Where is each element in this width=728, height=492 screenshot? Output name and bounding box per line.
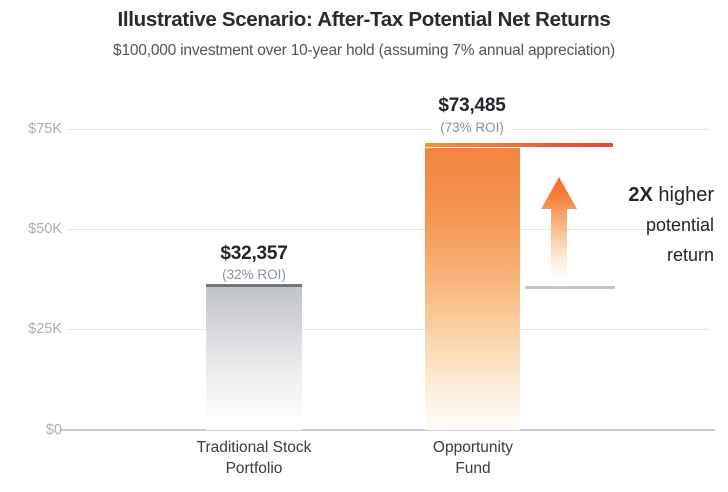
plot-area: $75K $50K $25K $0 $32,357 (32% ROI) $73,…: [0, 0, 728, 492]
bar-traditional-stock-portfolio-cap: [206, 284, 302, 287]
ytick-label-75k: $75K: [0, 121, 62, 137]
callout-2x-higher-potential-return: 2X higher potential return: [484, 180, 714, 270]
gridline-25k: [68, 329, 710, 330]
chart-container: Illustrative Scenario: After-Tax Potenti…: [0, 0, 728, 492]
value-label-traditional-stock-portfolio: $32,357: [204, 243, 304, 265]
callout-multiple: 2X: [628, 184, 652, 206]
bar-traditional-stock-portfolio[interactable]: [206, 286, 302, 430]
category-label-traditional-stock-portfolio: Traditional Stock Portfolio: [174, 437, 334, 479]
highlight-line-orange-red: [425, 143, 613, 147]
ytick-label-25k: $25K: [0, 321, 62, 337]
category-label-line2: Portfolio: [174, 458, 334, 479]
category-label-line1: Opportunity: [393, 437, 553, 458]
roi-label-opportunity-fund-text: (73% ROI): [433, 120, 511, 135]
ytick-label-0: $0: [0, 422, 62, 438]
callout-line3: return: [484, 240, 714, 270]
roi-label-opportunity-fund: (73% ROI): [422, 120, 522, 135]
ytick-label-50k: $50K: [0, 221, 62, 237]
roi-label-traditional-stock-portfolio: (32% ROI): [204, 267, 304, 282]
category-label-line1: Traditional Stock: [174, 437, 334, 458]
category-label-line2: Fund: [393, 458, 553, 479]
value-label-opportunity-fund: $73,485: [422, 95, 522, 117]
gridline-75k: [68, 129, 710, 130]
axis-baseline: [60, 429, 715, 431]
callout-line1-rest: higher: [653, 184, 714, 206]
callout-line2: potential: [484, 210, 714, 240]
callout-line1: 2X higher: [484, 180, 714, 210]
category-label-opportunity-fund: Opportunity Fund: [393, 437, 553, 479]
